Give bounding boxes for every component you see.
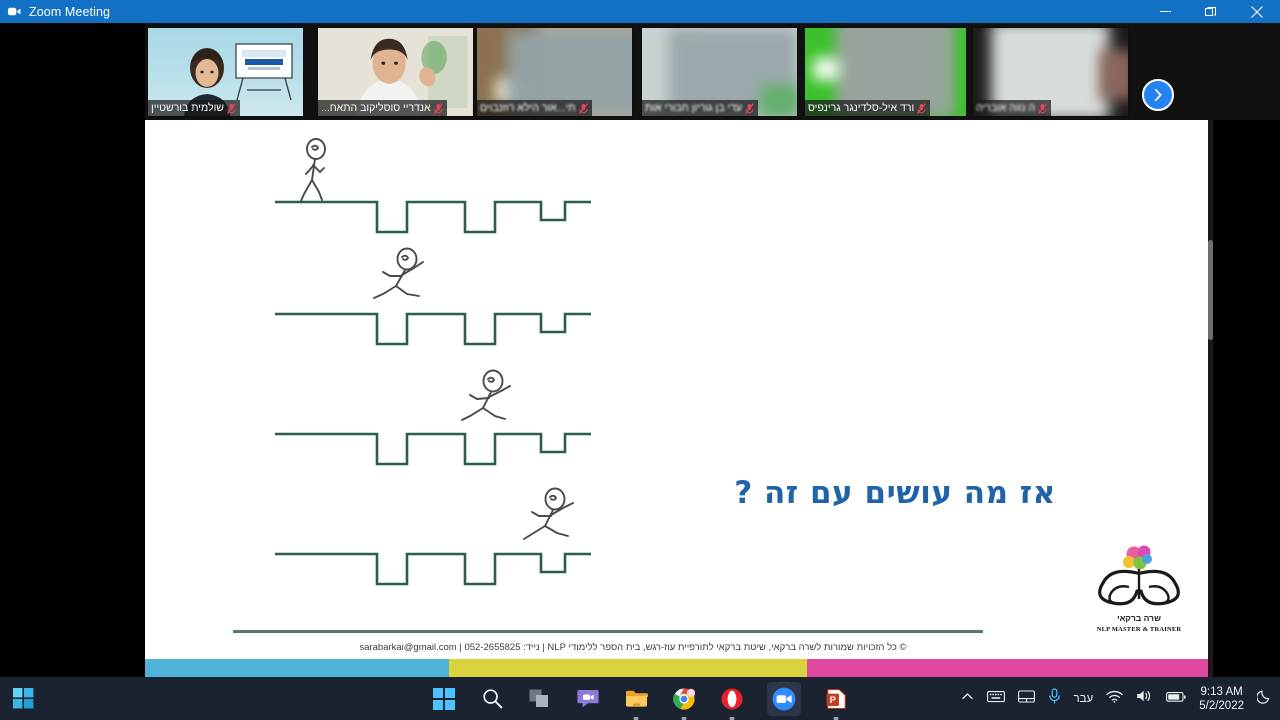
participant-nameplate: ורד איל-סלדינגר גרינפיס	[805, 100, 930, 116]
muted-microphone-icon	[434, 103, 443, 114]
share-scrollbar-thumb[interactable]	[1208, 240, 1213, 340]
presentation-slide: אז מה עושים עם זה ? שרה ברקאי NLP MASTER	[145, 120, 1213, 677]
clock-time: 9:13 AM	[1199, 685, 1244, 699]
chevron-up-icon[interactable]	[961, 690, 974, 708]
windows-start-icon[interactable]	[10, 686, 36, 712]
gap-path	[273, 412, 593, 472]
volume-icon[interactable]	[1136, 689, 1153, 708]
stick-figure-running	[371, 246, 435, 316]
chevron-right-icon	[1151, 88, 1165, 102]
band-magenta	[807, 659, 1213, 677]
participant-tile[interactable]: תי...אור הילא רוזנבוים	[476, 27, 633, 117]
next-page-button[interactable]	[1142, 79, 1174, 111]
zoom-meeting-window: שולמית בורשטיין	[0, 23, 1280, 677]
participant-tile[interactable]: ורד איל-סלדינגר גרינפיס	[804, 27, 967, 117]
participant-tile[interactable]: אנדריי סוסליקוב התאח...	[317, 27, 474, 117]
wifi-icon[interactable]	[1106, 690, 1123, 708]
footer-email: sarabarkai@gmail.com	[359, 642, 456, 653]
restore-button[interactable]	[1188, 0, 1234, 23]
participant-nameplate: עדי בן גוריון חבורי אות	[642, 100, 758, 116]
participant-name: שולמית בורשטיין	[151, 101, 224, 115]
logo-name-hebrew: שרה ברקאי	[1085, 613, 1193, 623]
muted-microphone-icon	[917, 103, 926, 114]
opera-icon[interactable]	[719, 686, 745, 712]
windows-start-icon[interactable]	[431, 686, 457, 712]
zoom-icon[interactable]	[767, 682, 801, 716]
participant-nameplate: שולמית בורשטיין	[148, 100, 240, 116]
touchpad-icon[interactable]	[1018, 690, 1035, 708]
path-row	[273, 532, 593, 592]
stick-figure-running	[459, 368, 523, 436]
participant-nameplate: תי...אור הילא רוזנבוים	[477, 100, 592, 116]
butterfly-flower-icon	[1085, 543, 1193, 617]
slide-color-bands	[145, 659, 1213, 677]
keyboard-icon[interactable]	[987, 690, 1005, 708]
brand-logo: שרה ברקאי NLP MASTER & TRAINER	[1085, 543, 1193, 635]
footer-phone: 052-2655825	[464, 642, 520, 653]
participant-name: ה נווה אובריה	[976, 101, 1035, 115]
window-controls	[1142, 0, 1280, 23]
footer-separator-2: |	[459, 642, 461, 653]
participant-nameplate: ה נווה אובריה	[973, 100, 1051, 116]
taskbar-left	[10, 686, 36, 712]
stick-figure-running	[521, 486, 585, 556]
footer-divider	[233, 630, 983, 633]
muted-microphone-icon	[1038, 103, 1047, 114]
share-scrollbar[interactable]	[1208, 120, 1213, 677]
clock[interactable]: 9:13 AM 5/2/2022	[1199, 685, 1244, 713]
band-yellow	[449, 659, 807, 677]
path-row	[273, 292, 593, 352]
clock-date: 5/2/2022	[1199, 699, 1244, 713]
participant-tile[interactable]: עדי בן גוריון חבורי אות	[641, 27, 798, 117]
participant-name: עדי בן גוריון חבורי אות	[645, 101, 742, 115]
battery-icon[interactable]	[1166, 690, 1186, 708]
participant-tile[interactable]: שולמית בורשטיין	[147, 27, 304, 117]
system-tray: עבר 9:13 AM 5/2/2022	[961, 685, 1272, 713]
participant-name: תי...אור הילא רוזנבוים	[480, 101, 576, 115]
muted-microphone-icon	[579, 103, 588, 114]
participant-filmstrip: שולמית בורשטיין	[145, 23, 1280, 120]
participant-tile[interactable]: ה נווה אובריה	[972, 27, 1129, 117]
footer-copyright: © כל הזכויות שמורות לשרה ברקאי, שיטת ברק…	[547, 642, 906, 653]
microphone-icon[interactable]	[1048, 688, 1061, 709]
shared-screen-area[interactable]: אז מה עושים עם זה ? שרה ברקאי NLP MASTER	[145, 120, 1213, 677]
chat-icon[interactable]	[575, 686, 601, 712]
chrome-icon[interactable]	[671, 686, 697, 712]
powerpoint-icon[interactable]: P	[823, 686, 849, 712]
logo-name-english: NLP MASTER & TRAINER	[1085, 626, 1193, 633]
task-view-icon[interactable]	[527, 686, 553, 712]
file-explorer-icon[interactable]	[623, 686, 649, 712]
title-bar: Zoom Meeting	[0, 0, 1280, 23]
participant-nameplate: אנדריי סוסליקוב התאח...	[318, 100, 447, 116]
band-cyan	[145, 659, 449, 677]
path-row	[273, 412, 593, 472]
slide-question-text: אז מה עושים עם זה ?	[615, 475, 1175, 511]
moon-icon[interactable]	[1257, 689, 1272, 709]
svg-text:P: P	[829, 693, 835, 704]
stick-figure-walking	[291, 138, 341, 204]
window-title: Zoom Meeting	[29, 5, 110, 19]
footer-phone-label: נייד:	[523, 642, 540, 653]
participant-name: ורד איל-סלדינגר גרינפיס	[808, 101, 914, 115]
path-row	[273, 180, 593, 240]
muted-microphone-icon	[227, 103, 236, 114]
footer-credits: © כל הזכויות שמורות לשרה ברקאי, שיטת ברק…	[233, 642, 1033, 653]
footer-separator: |	[542, 642, 544, 653]
search-icon[interactable]	[479, 686, 505, 712]
taskbar-pinned-apps: P	[431, 682, 849, 716]
muted-microphone-icon	[745, 103, 754, 114]
minimize-button[interactable]	[1142, 0, 1188, 23]
video-camera-icon	[6, 4, 22, 20]
easel-poster	[233, 40, 295, 102]
participant-name: אנדריי סוסליקוב התאח...	[321, 101, 431, 115]
windows-taskbar: P עבר	[0, 677, 1280, 720]
language-indicator[interactable]: עבר	[1074, 693, 1094, 705]
close-button[interactable]	[1234, 0, 1280, 23]
